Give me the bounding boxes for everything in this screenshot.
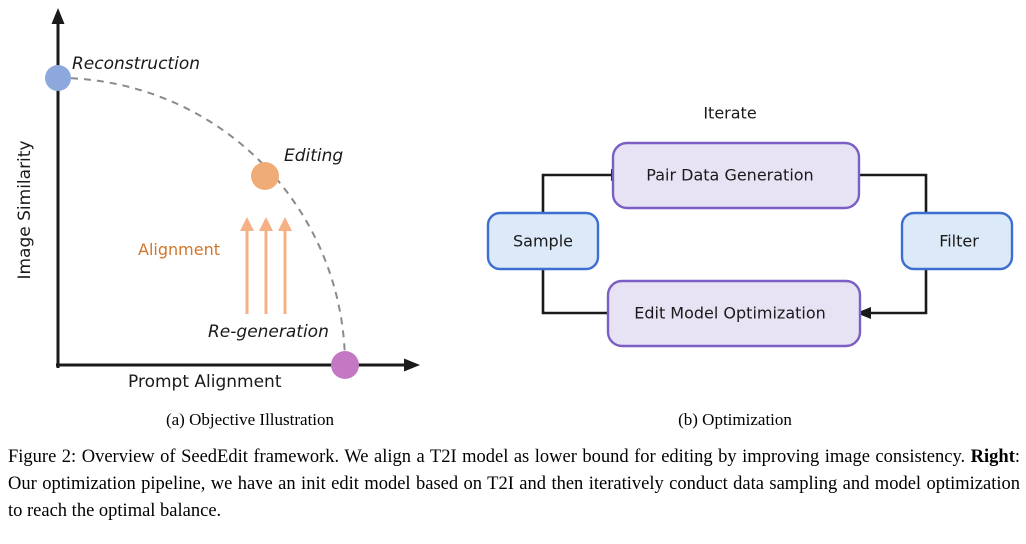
node-label-sample: Sample bbox=[513, 232, 573, 251]
figure-page: Reconstruction Editing Re-generation Ali… bbox=[0, 0, 1026, 544]
x-axis bbox=[56, 359, 420, 372]
edge-filter-to-edit-model bbox=[856, 270, 926, 319]
panel-optimization-diagram bbox=[450, 0, 1026, 400]
figure-caption: Figure 2: Overview of SeedEdit framework… bbox=[8, 444, 1020, 526]
x-axis-label: Prompt Alignment bbox=[128, 372, 282, 392]
node-label-filter: Filter bbox=[939, 232, 979, 251]
point-reconstruction bbox=[45, 65, 71, 91]
iterate-label: Iterate bbox=[703, 104, 756, 123]
alignment-arrows bbox=[240, 217, 292, 314]
panel-objective-illustration: Reconstruction Editing Re-generation Ali… bbox=[0, 0, 450, 400]
label-reconstruction: Reconstruction bbox=[72, 54, 200, 74]
caption-bold-right: Right bbox=[971, 447, 1015, 467]
edge-pair-data-to-filter bbox=[859, 175, 926, 213]
y-axis-label: Image Similarity bbox=[15, 140, 35, 279]
label-editing: Editing bbox=[284, 146, 343, 166]
label-alignment: Alignment bbox=[138, 240, 220, 259]
subcaption-b: (b) Optimization bbox=[678, 410, 792, 430]
y-axis bbox=[52, 8, 65, 368]
node-label-edit-model-optimization: Edit Model Optimization bbox=[634, 304, 826, 323]
caption-figure-number: Figure 2: bbox=[8, 447, 76, 467]
label-regeneration: Re-generation bbox=[208, 322, 329, 342]
caption-text-part1: Overview of SeedEdit framework. We align… bbox=[76, 447, 970, 467]
node-label-pair-data-generation: Pair Data Generation bbox=[646, 166, 813, 185]
point-editing bbox=[251, 162, 279, 190]
point-regeneration bbox=[331, 351, 359, 379]
subcaption-a: (a) Objective Illustration bbox=[166, 410, 334, 430]
